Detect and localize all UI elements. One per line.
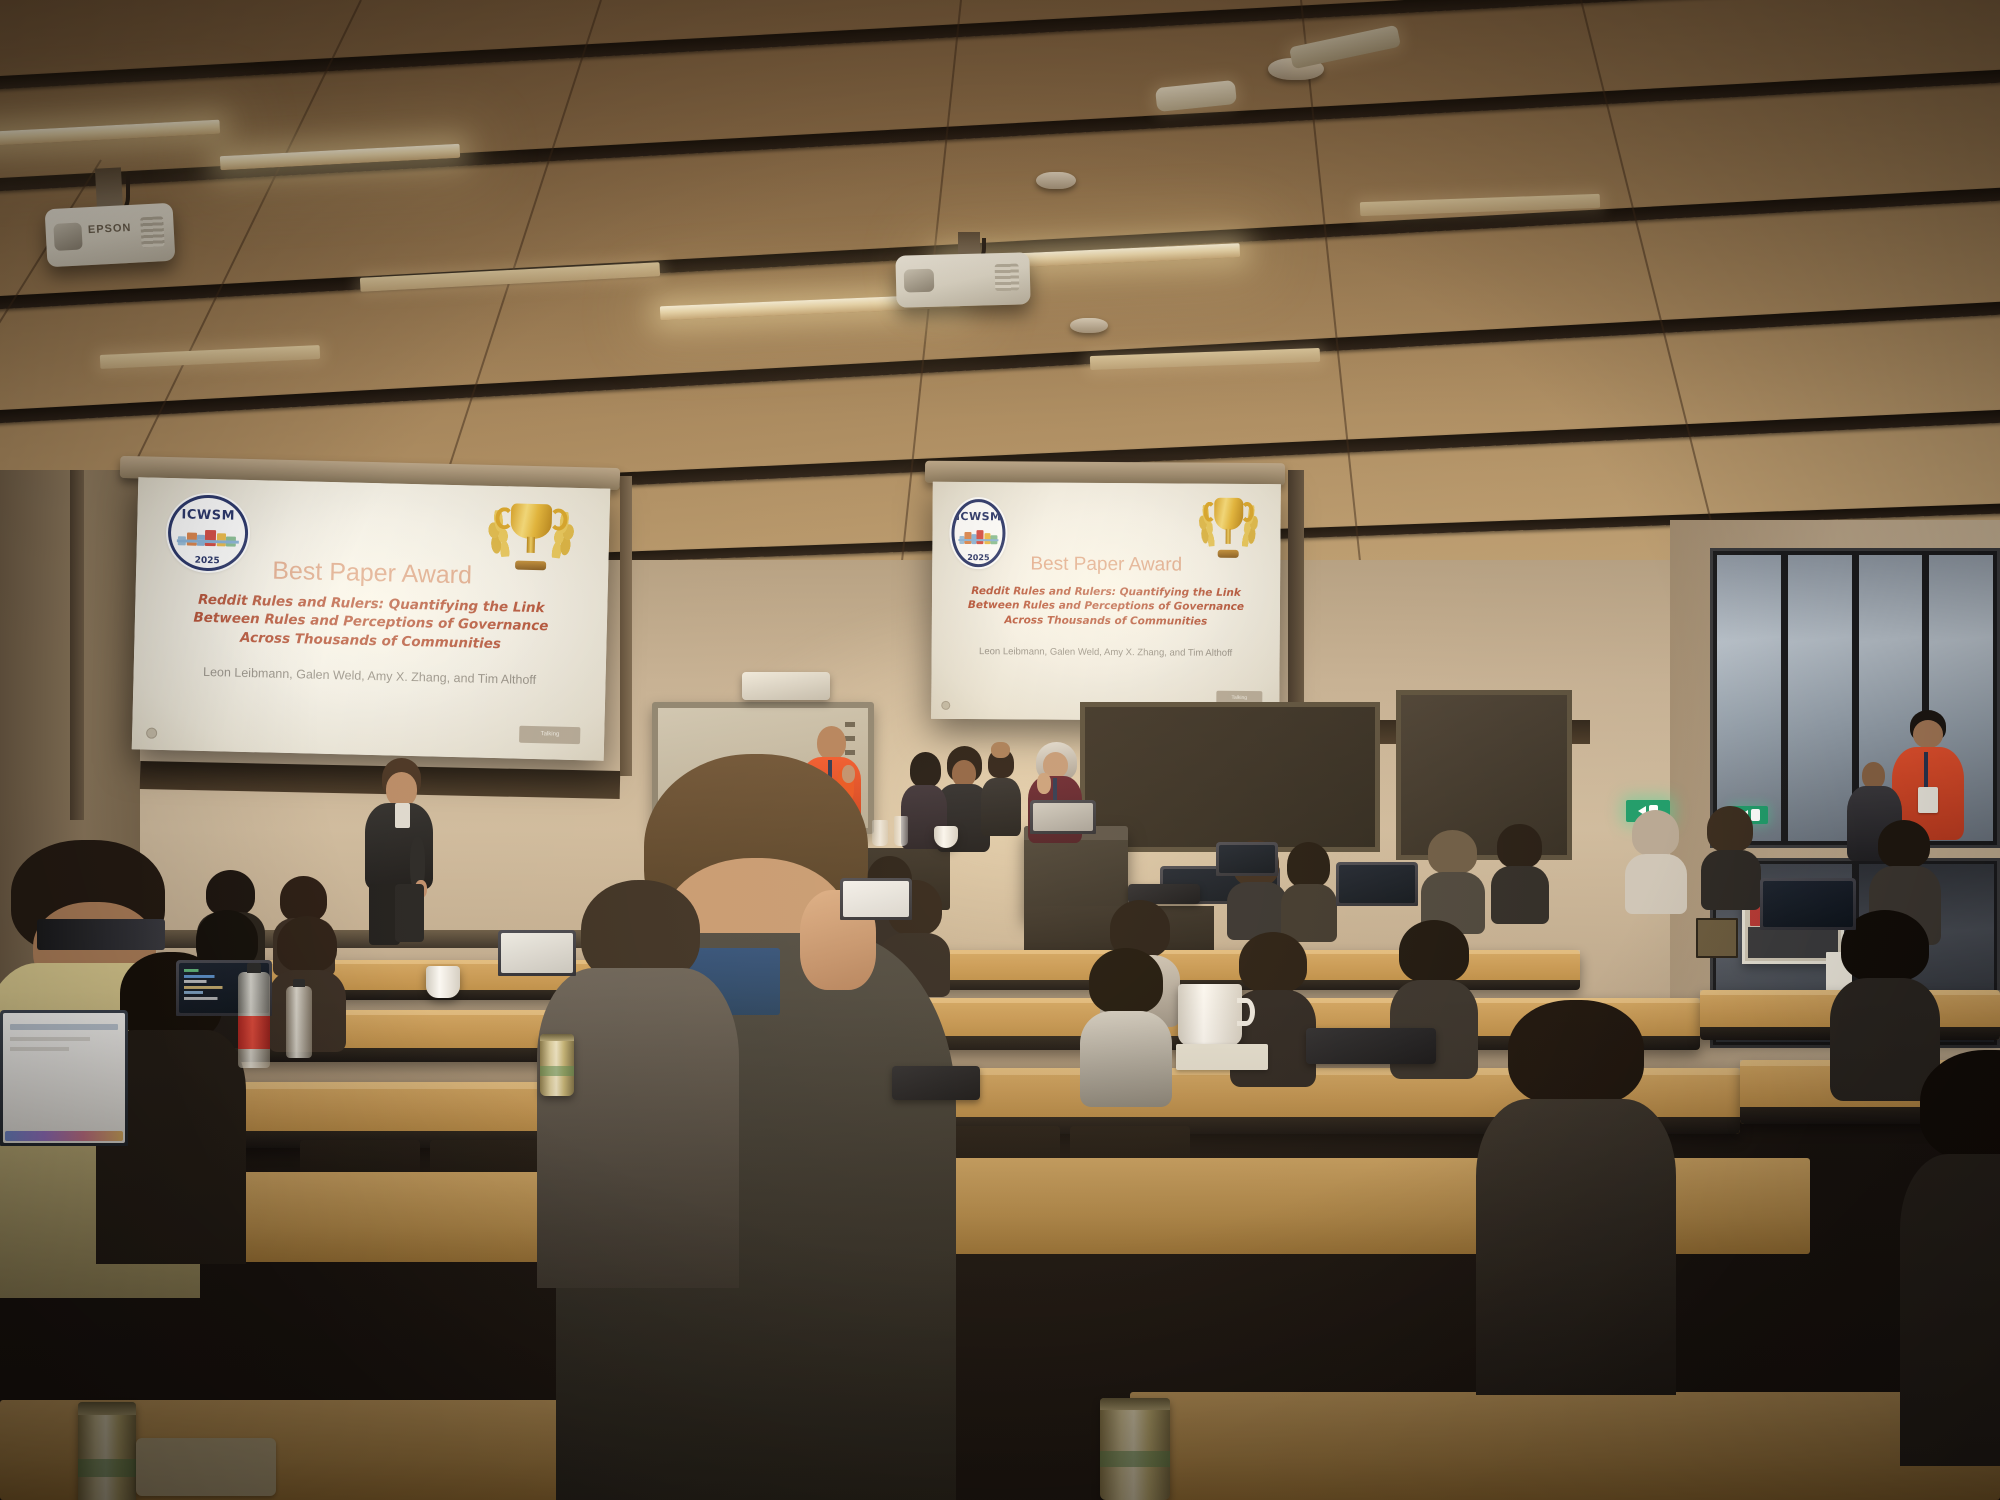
ceiling-light bbox=[360, 262, 660, 292]
water-bottle bbox=[286, 986, 312, 1058]
laptop bbox=[498, 930, 576, 976]
laptop bbox=[1760, 878, 1856, 930]
audience-member bbox=[1624, 810, 1688, 910]
phone bbox=[892, 1066, 980, 1100]
water-bottle bbox=[238, 972, 270, 1068]
drink-can bbox=[78, 1402, 136, 1500]
projection-screen-left: ICWSM 2025 bbox=[132, 477, 611, 760]
shirt-collar bbox=[395, 803, 410, 828]
slide-paper-title: Reddit Rules and Rulers: Quantifying the… bbox=[953, 584, 1260, 630]
ceiling-light bbox=[0, 120, 220, 151]
ceiling-fixture bbox=[1155, 80, 1237, 112]
foreground-person-far-right bbox=[1900, 1050, 2000, 1450]
projector-epson-left: EPSON bbox=[45, 203, 176, 268]
audience-member bbox=[1280, 842, 1338, 938]
hair bbox=[1508, 1000, 1644, 1106]
projector-epson-right bbox=[895, 252, 1030, 307]
laptop bbox=[1030, 800, 1096, 834]
slide-nav-dot[interactable] bbox=[146, 728, 157, 739]
lecture-hall-photo: EPSON ICWSM bbox=[0, 0, 2000, 1500]
slide-authors: Leon Leibmann, Galen Weld, Amy X. Zhang,… bbox=[932, 645, 1280, 658]
desk-surface-foreground bbox=[1130, 1392, 2000, 1500]
leg bbox=[395, 884, 424, 942]
coffee-mug bbox=[426, 966, 460, 998]
slide-heading: Best Paper Award bbox=[932, 553, 1280, 577]
wall-plaque bbox=[1696, 918, 1738, 958]
audience-member bbox=[1490, 824, 1550, 920]
projection-screen-right: ICWSM 2025 bbox=[931, 482, 1281, 721]
clapping-hands bbox=[1037, 773, 1051, 794]
desk-surface bbox=[930, 1158, 1810, 1254]
slide-status-badge: Talking bbox=[519, 726, 581, 744]
glasses-icon bbox=[37, 919, 165, 950]
phone bbox=[1306, 1028, 1436, 1064]
drink-can bbox=[540, 1034, 574, 1096]
slide-paper-title: Reddit Rules and Rulers: Quantifying the… bbox=[167, 590, 574, 656]
laptop bbox=[840, 878, 912, 920]
smoke-detector-icon bbox=[1036, 172, 1076, 189]
napkin bbox=[1176, 1044, 1268, 1070]
ceiling-fixture bbox=[1289, 25, 1401, 69]
screen-rail bbox=[620, 476, 632, 776]
foreground-person-right bbox=[1476, 1000, 1676, 1380]
screen-rail bbox=[70, 470, 84, 820]
torso bbox=[1900, 1154, 2000, 1466]
laptop bbox=[1336, 862, 1418, 906]
person-front-group-c bbox=[978, 748, 1026, 848]
torso bbox=[537, 968, 739, 1288]
torso bbox=[1476, 1099, 1676, 1395]
audience-member bbox=[1700, 806, 1762, 906]
person-walking-suit bbox=[358, 758, 450, 938]
laptop-foreground bbox=[0, 1010, 128, 1146]
slide-authors: Leon Leibmann, Galen Weld, Amy X. Zhang,… bbox=[133, 664, 605, 690]
ceiling-light bbox=[100, 345, 320, 369]
projector-brand-label: EPSON bbox=[88, 222, 132, 236]
hair bbox=[1920, 1050, 2000, 1162]
coffee-mug bbox=[1178, 984, 1242, 1046]
audience-member bbox=[1080, 948, 1172, 1098]
document-camera bbox=[742, 672, 830, 700]
slide-nav-dot[interactable] bbox=[942, 700, 951, 709]
paper-bag bbox=[136, 1438, 276, 1496]
drink-can bbox=[1100, 1398, 1170, 1500]
laptop bbox=[1216, 842, 1278, 876]
audience-member bbox=[1420, 830, 1486, 930]
trophy-icon bbox=[1197, 495, 1260, 562]
smoke-detector-icon bbox=[1070, 318, 1108, 333]
raised-hands bbox=[991, 742, 1009, 758]
